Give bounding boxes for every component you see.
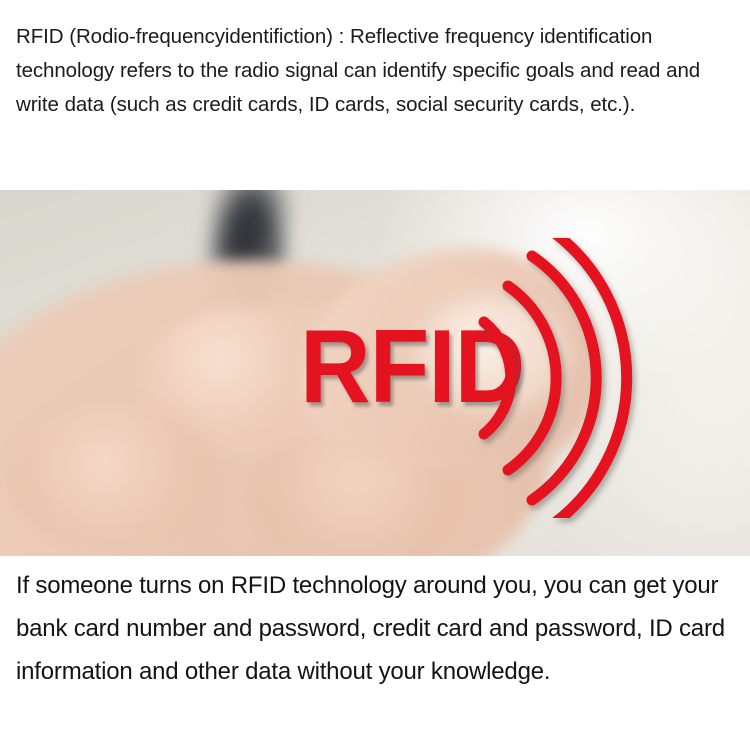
product-info-page: RFID (Rodio-frequencyidentifiction) : Re… bbox=[0, 0, 750, 750]
fingertip-highlight bbox=[420, 300, 570, 415]
warning-paragraph: If someone turns on RFID technology arou… bbox=[16, 564, 736, 693]
warning-text-block: If someone turns on RFID technology arou… bbox=[0, 556, 750, 750]
intro-paragraph: RFID (Rodio-frequencyidentifiction) : Re… bbox=[16, 20, 736, 122]
intro-text-block: RFID (Rodio-frequencyidentifiction) : Re… bbox=[0, 0, 750, 190]
rfid-photo: RFID bbox=[0, 190, 750, 556]
knuckle-highlight-left bbox=[10, 405, 220, 555]
